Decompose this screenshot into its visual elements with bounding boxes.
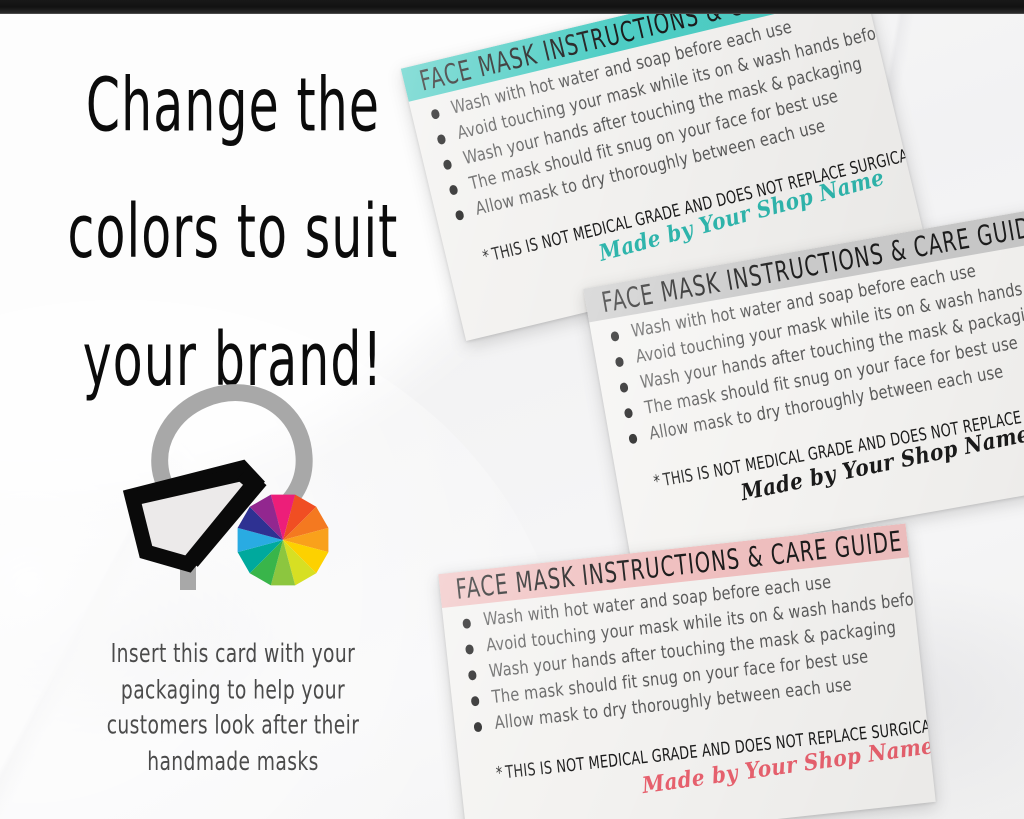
headline-line-2: colors to suit [50, 171, 417, 298]
subtitle-line-1: Insert this card with your [55, 636, 410, 672]
face-mask-color-wheel-icon [120, 382, 350, 594]
page-subtitle: Insert this card with your packaging to … [55, 636, 410, 780]
disclaimer-star: * [652, 472, 662, 492]
care-card-pink[interactable]: FACE MASK INSTRUCTIONS & CARE GUIDE Wash… [438, 523, 935, 819]
subtitle-line-3: customers look after their [55, 708, 410, 744]
top-dark-bar [0, 0, 1024, 14]
subtitle-line-4: handmade masks [55, 744, 410, 780]
promo-canvas: Change the colors to suit your brand! [0, 0, 1024, 819]
page-headline: Change the colors to suit your brand! [50, 44, 417, 425]
disclaimer-star: * [495, 764, 504, 784]
subtitle-line-2: packaging to help your [55, 672, 410, 708]
color-wheel-icon [238, 495, 329, 586]
headline-line-1: Change the [50, 44, 417, 171]
